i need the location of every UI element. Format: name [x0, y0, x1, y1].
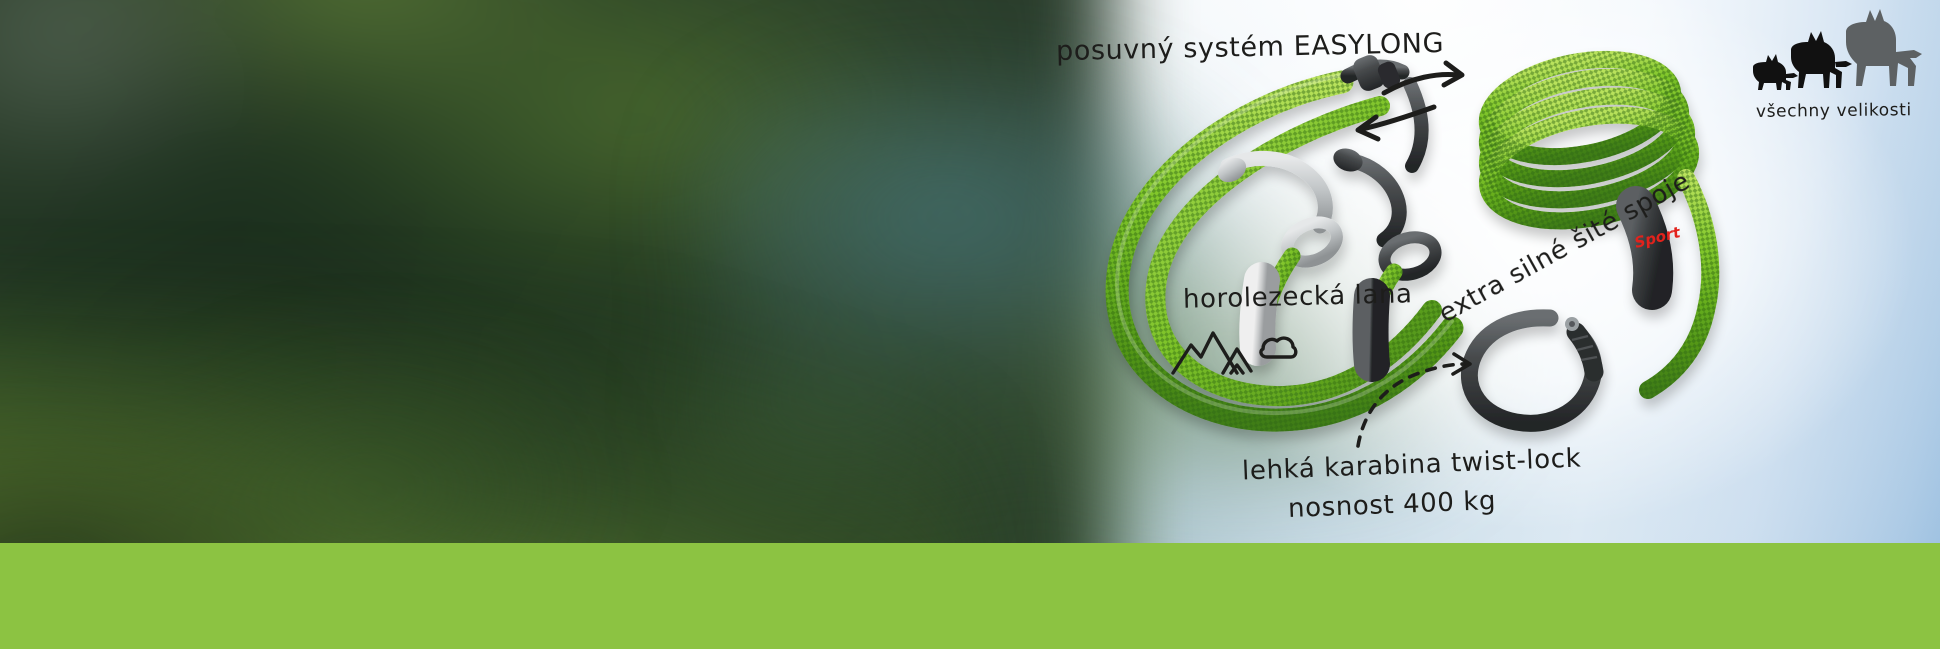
carabiner-gate [1572, 332, 1597, 372]
double-slide-arrow-icon [1334, 55, 1484, 147]
green-footer-bar [0, 543, 1940, 649]
hero-banner: Sport [0, 0, 1940, 649]
label-vsechny-velikosti: všechny velikosti [1756, 100, 1912, 122]
label-horolezecka-lana: horolezecká lana [1183, 279, 1413, 315]
dog-medium-silhouette [1791, 31, 1852, 88]
foreground-blur [0, 303, 620, 543]
dashed-curved-arrow-icon [1330, 318, 1520, 448]
three-dog-sizes-icon [1746, 8, 1924, 100]
dog-large-silhouette [1846, 9, 1922, 86]
mountain-cloud-icon [1171, 323, 1299, 385]
